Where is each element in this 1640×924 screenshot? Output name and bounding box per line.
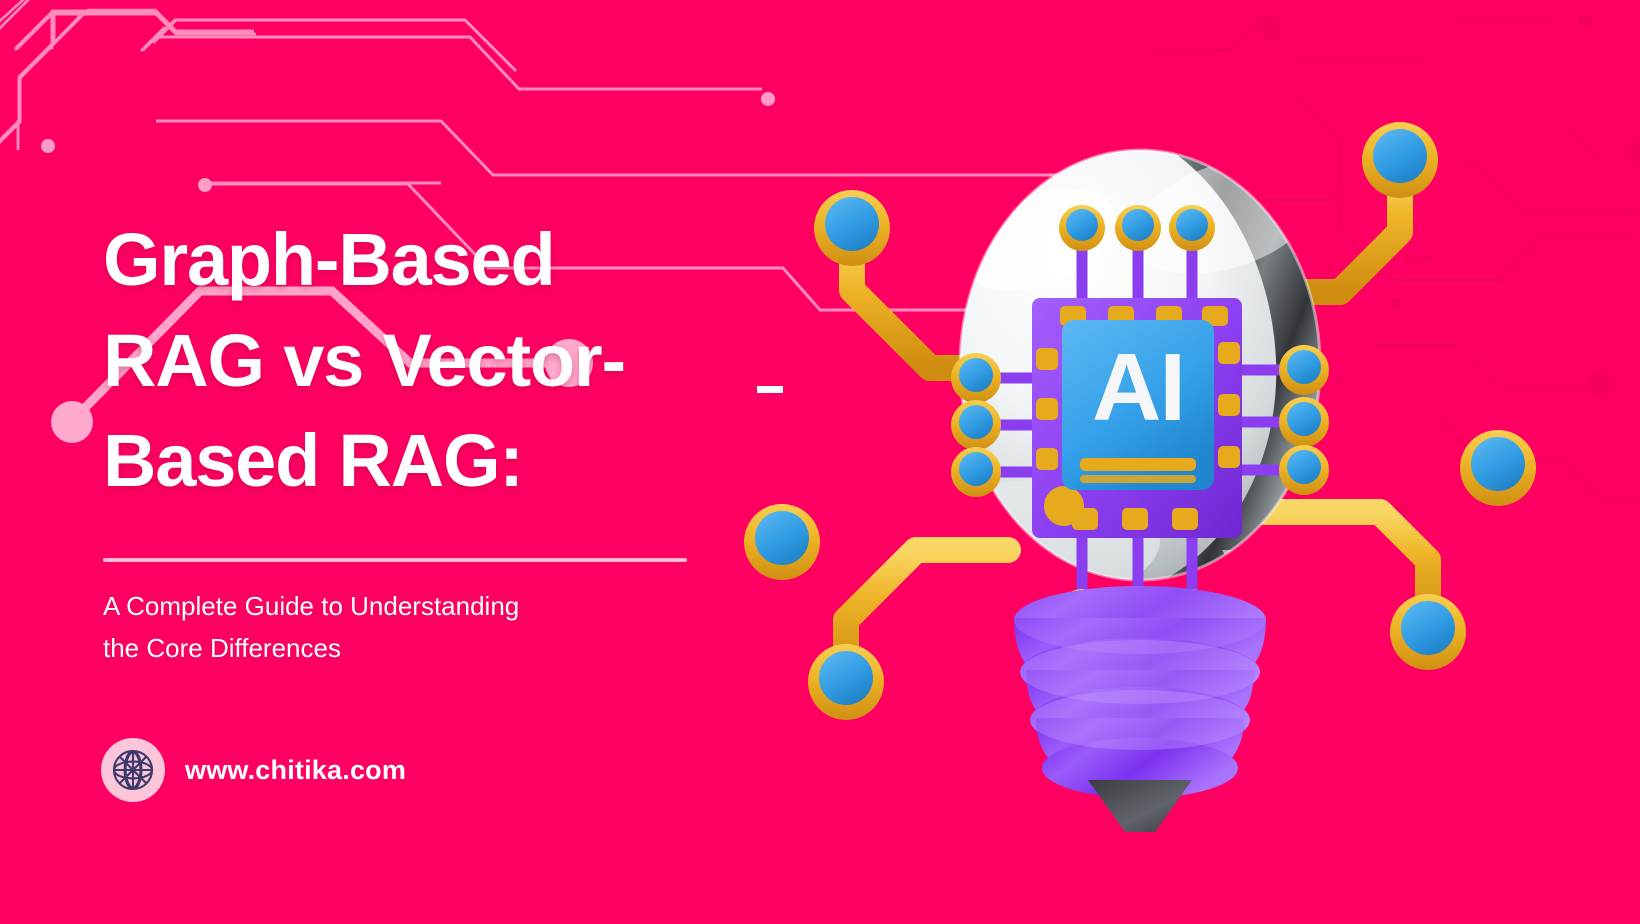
svg-text:AI: AI xyxy=(1092,334,1184,441)
accent-tick-mark xyxy=(757,386,783,393)
headline-block: Graph-Based RAG vs Vector- Based RAG: xyxy=(103,210,783,512)
banner-canvas: Graph-Based RAG vs Vector- Based RAG: A … xyxy=(0,0,1640,924)
ai-lightbulb-illustration: MOOD xyxy=(740,120,1540,880)
globe-network-icon xyxy=(101,738,165,802)
svg-text:MOOD: MOOD xyxy=(1240,538,1265,606)
subtitle: A Complete Guide to Understanding the Co… xyxy=(103,585,703,669)
page-title: Graph-Based RAG vs Vector- Based RAG: xyxy=(103,210,783,512)
title-divider xyxy=(103,558,687,562)
site-url[interactable]: www.chitika.com xyxy=(185,755,406,786)
brand-footer[interactable]: www.chitika.com xyxy=(101,738,406,802)
